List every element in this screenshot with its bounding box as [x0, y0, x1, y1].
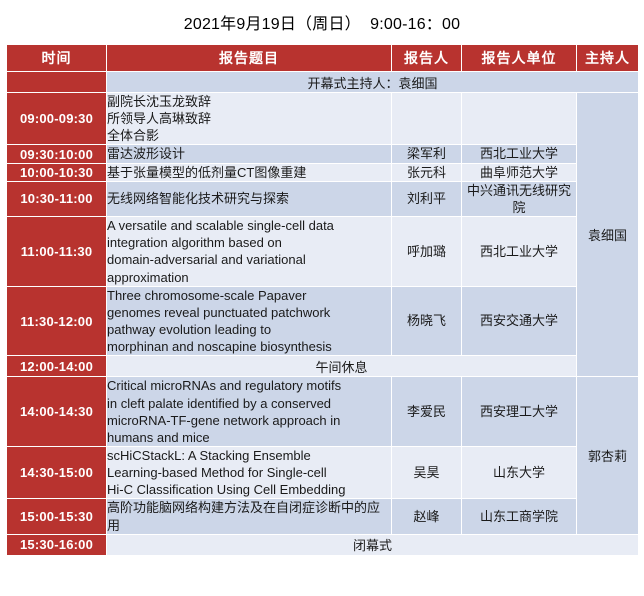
header-row: 时间 报告题目 报告人 报告人单位 主持人 — [7, 45, 639, 72]
cell-time: 11:00-11:30 — [7, 217, 107, 287]
cell-time: 09:30:10:00 — [7, 145, 107, 163]
cell-speaker: 呼加璐 — [392, 217, 462, 287]
cell-title: 无线网络智能化技术研究与探索 — [107, 181, 392, 216]
cell-title: 副院长沈玉龙致辞 所领导人高琳致辞 全体合影 — [107, 93, 392, 145]
cell-speaker: 赵峰 — [392, 499, 462, 534]
cell-org: 西安交通大学 — [462, 286, 577, 356]
table-row: 15:00-15:30 高阶功能脑网络构建方法及在自闭症诊断中的应用 赵峰 山东… — [7, 499, 639, 534]
column-header-time: 时间 — [7, 45, 107, 72]
table-row-lunch: 12:00-14:00 午间休息 — [7, 356, 639, 377]
column-header-speaker: 报告人 — [392, 45, 462, 72]
cell-time: 11:30-12:00 — [7, 286, 107, 356]
cell-speaker: 梁军利 — [392, 145, 462, 163]
cell-org: 西北工业大学 — [462, 217, 577, 287]
table-row: 10:30-11:00 无线网络智能化技术研究与探索 刘利平 中兴通讯无线研究院 — [7, 181, 639, 216]
cell-org: 山东大学 — [462, 446, 577, 498]
cell-speaker: 吴昊 — [392, 446, 462, 498]
cell-org: 曲阜师范大学 — [462, 163, 577, 181]
column-header-title: 报告题目 — [107, 45, 392, 72]
cell-speaker — [392, 93, 462, 145]
table-row: 10:00-10:30 基于张量模型的低剂量CT图像重建 张元科 曲阜师范大学 — [7, 163, 639, 181]
cell-title: Critical microRNAs and regulatory motifs… — [107, 377, 392, 447]
cell-time: 15:00-15:30 — [7, 499, 107, 534]
cell-title: A versatile and scalable single-cell dat… — [107, 217, 392, 287]
cell-speaker: 张元科 — [392, 163, 462, 181]
cell-time: 12:00-14:00 — [7, 356, 107, 377]
cell-time: 10:00-10:30 — [7, 163, 107, 181]
cell-org — [462, 93, 577, 145]
lunch-break-banner: 午间休息 — [107, 356, 577, 377]
cell-time-opening-banner — [7, 72, 107, 93]
cell-chair-morning: 袁细国 — [577, 93, 639, 377]
cell-title: 雷达波形设计 — [107, 145, 392, 163]
cell-speaker: 刘利平 — [392, 181, 462, 216]
cell-title: scHiCStackL: A Stacking Ensemble Learnin… — [107, 446, 392, 498]
table-row: 14:30-15:00 scHiCStackL: A Stacking Ense… — [7, 446, 639, 498]
cell-time: 09:00-09:30 — [7, 93, 107, 145]
table-row-opening-banner: 开幕式主持人：袁细国 — [7, 72, 639, 93]
cell-org: 西安理工大学 — [462, 377, 577, 447]
cell-title: Three chromosome-scale Papaver genomes r… — [107, 286, 392, 356]
cell-org: 山东工商学院 — [462, 499, 577, 534]
cell-time: 14:30-15:00 — [7, 446, 107, 498]
table-row: 11:30-12:00 Three chromosome-scale Papav… — [7, 286, 639, 356]
cell-time: 14:00-14:30 — [7, 377, 107, 447]
column-header-org: 报告人单位 — [462, 45, 577, 72]
table-body: 开幕式主持人：袁细国 09:00-09:30 副院长沈玉龙致辞 所领导人高琳致辞… — [7, 72, 639, 556]
cell-time: 15:30-16:00 — [7, 534, 107, 555]
table-row: 09:30:10:00 雷达波形设计 梁军利 西北工业大学 — [7, 145, 639, 163]
page-title-bar: 2021年9月19日（周日） 9:00-16：00 — [0, 0, 644, 44]
cell-title: 基于张量模型的低剂量CT图像重建 — [107, 163, 392, 181]
cell-title: 高阶功能脑网络构建方法及在自闭症诊断中的应用 — [107, 499, 392, 534]
cell-time: 10:30-11:00 — [7, 181, 107, 216]
closing-ceremony-banner: 闭幕式 — [107, 534, 639, 555]
table-header: 时间 报告题目 报告人 报告人单位 主持人 — [7, 45, 639, 72]
schedule-page: 2021年9月19日（周日） 9:00-16：00 时间 报告题目 报告人 报告… — [0, 0, 644, 596]
table-row: 11:00-11:30 A versatile and scalable sin… — [7, 217, 639, 287]
table-row: 14:00-14:30 Critical microRNAs and regul… — [7, 377, 639, 447]
cell-org: 西北工业大学 — [462, 145, 577, 163]
page-title: 2021年9月19日（周日） 9:00-16：00 — [184, 10, 460, 34]
cell-chair-afternoon: 郭杏莉 — [577, 377, 639, 534]
schedule-table: 时间 报告题目 报告人 报告人单位 主持人 开幕式主持人：袁细国 09:00-0… — [6, 44, 639, 556]
table-row-closing: 15:30-16:00 闭幕式 — [7, 534, 639, 555]
column-header-chair: 主持人 — [577, 45, 639, 72]
cell-org: 中兴通讯无线研究院 — [462, 181, 577, 216]
opening-ceremony-banner: 开幕式主持人：袁细国 — [107, 72, 639, 93]
cell-speaker: 李爱民 — [392, 377, 462, 447]
cell-speaker: 杨晓飞 — [392, 286, 462, 356]
table-row: 09:00-09:30 副院长沈玉龙致辞 所领导人高琳致辞 全体合影 袁细国 — [7, 93, 639, 145]
